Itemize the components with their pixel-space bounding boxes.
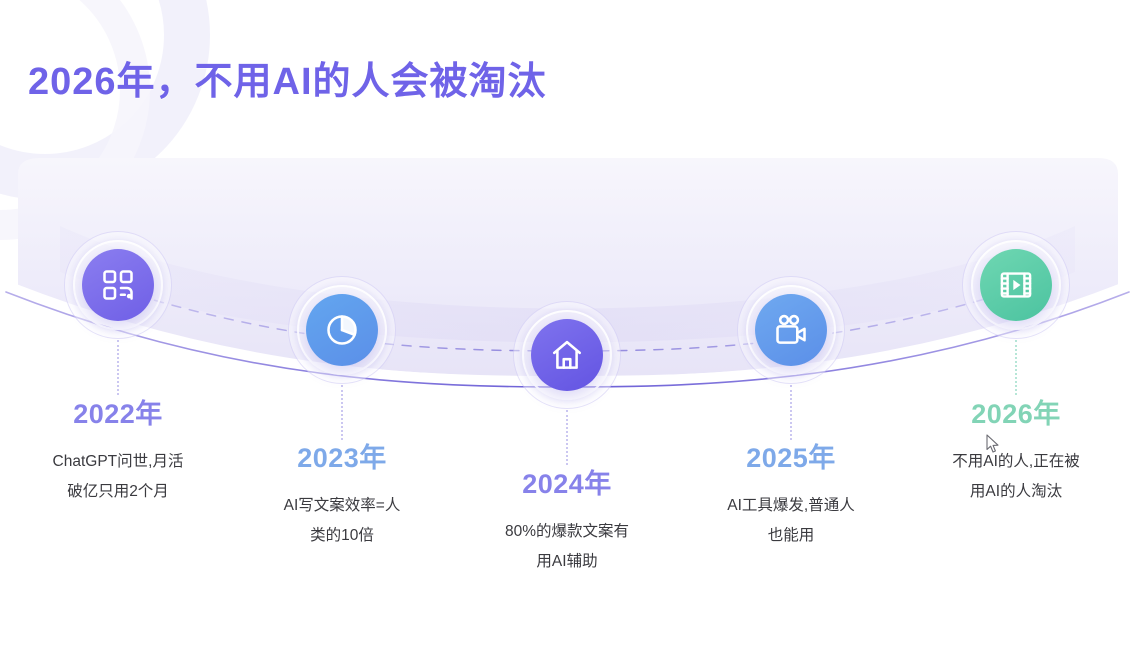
qrcode-icon (100, 267, 136, 303)
house-icon (549, 337, 585, 373)
caption-2024: 2024年 80%的爆款文案有 用AI辅助 (437, 462, 697, 577)
node-2024[interactable] (513, 301, 621, 409)
slide-canvas: 2026年，不用AI的人会被淘汰 (0, 0, 1135, 649)
caption-2025: 2025年 AI工具爆发,普通人 也能用 (661, 436, 921, 551)
description-text: ChatGPT问世,月活 破亿只用2个月 (0, 447, 248, 507)
node-disc (306, 294, 378, 366)
film-play-icon (998, 267, 1034, 303)
node-2023[interactable] (288, 276, 396, 384)
node-2022[interactable] (64, 231, 172, 339)
node-disc (82, 249, 154, 321)
year-label: 2026年 (886, 392, 1135, 431)
description-text: AI工具爆发,普通人 也能用 (661, 491, 921, 551)
description-text: 80%的爆款文案有 用AI辅助 (437, 517, 697, 577)
connector-line-2023 (341, 385, 343, 440)
connector-line-2025 (790, 385, 792, 440)
year-label: 2025年 (661, 436, 921, 475)
year-label: 2023年 (212, 436, 472, 475)
connector-line-2024 (566, 410, 568, 465)
caption-2023: 2023年 AI写文案效率=人 类的10倍 (212, 436, 472, 551)
description-text: 不用AI的人,正在被 用AI的人淘汰 (886, 447, 1135, 507)
timeline: 2022年 ChatGPT问世,月活 破亿只用2个月 2023年 AI写文案效率… (0, 0, 1135, 649)
caption-2026: 2026年 不用AI的人,正在被 用AI的人淘汰 (886, 392, 1135, 507)
caption-2022: 2022年 ChatGPT问世,月活 破亿只用2个月 (0, 392, 248, 507)
video-camera-icon (773, 312, 809, 348)
node-disc (980, 249, 1052, 321)
description-text: AI写文案效率=人 类的10倍 (212, 491, 472, 551)
node-disc (531, 319, 603, 391)
node-2025[interactable] (737, 276, 845, 384)
year-label: 2022年 (0, 392, 248, 431)
piechart-icon (324, 312, 360, 348)
node-2026[interactable] (962, 231, 1070, 339)
connector-line-2022 (117, 340, 119, 395)
node-disc (755, 294, 827, 366)
year-label: 2024年 (437, 462, 697, 501)
connector-line-2026 (1015, 340, 1017, 395)
